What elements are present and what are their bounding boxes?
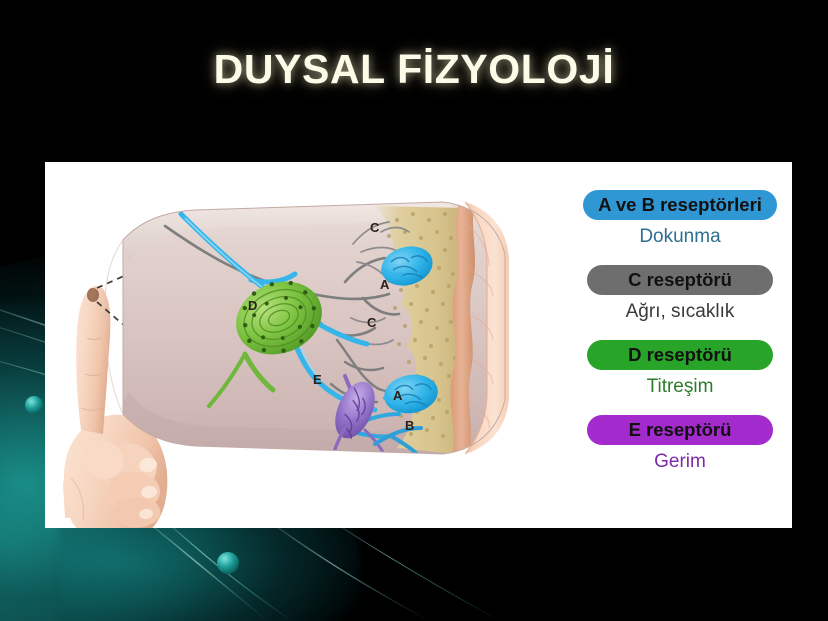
skin-block <box>105 198 509 464</box>
legend-pill-d[interactable]: D reseptörü <box>587 340 773 370</box>
label-d: D <box>248 298 257 313</box>
legend-pill-e[interactable]: E reseptörü <box>587 415 773 445</box>
legend-pill-c[interactable]: C reseptörü <box>587 265 773 295</box>
legend-pill-a-b[interactable]: A ve B reseptörleri <box>583 190 777 220</box>
label-c-upper: C <box>370 220 380 235</box>
label-e: E <box>313 372 322 387</box>
legend-sub-a-b: Dokunma <box>575 226 785 248</box>
label-c-lower: C <box>367 315 377 330</box>
legend-item-e: E reseptörü Gerim <box>575 415 785 473</box>
skin-receptor-diagram: C A C D E A B <box>45 162 575 528</box>
legend-sub-e: Gerim <box>575 451 785 473</box>
content-panel: C A C D E A B A ve B reseptörleri Dokunm… <box>45 162 792 528</box>
label-a-lower: A <box>393 388 403 403</box>
teal-swoosh-lower <box>60 520 360 621</box>
slide-root: DUYSAL FİZYOLOJİ <box>0 0 828 621</box>
legend-sub-d: Titreşim <box>575 376 785 398</box>
legend-item-c: C reseptörü Ağrı, sıcaklık <box>575 265 785 323</box>
page-title: DUYSAL FİZYOLOJİ <box>0 46 828 93</box>
label-a-upper: A <box>380 277 390 292</box>
legend-sub-c: Ağrı, sıcaklık <box>575 301 785 323</box>
legend-item-d: D reseptörü Titreşim <box>575 340 785 398</box>
legend-item-a-b: A ve B reseptörleri Dokunma <box>575 190 785 248</box>
receptor-legend: A ve B reseptörleri Dokunma C reseptörü … <box>575 190 785 473</box>
label-b: B <box>405 418 414 433</box>
teal-dot-accent <box>217 552 239 574</box>
teal-dot-accent <box>25 396 43 414</box>
